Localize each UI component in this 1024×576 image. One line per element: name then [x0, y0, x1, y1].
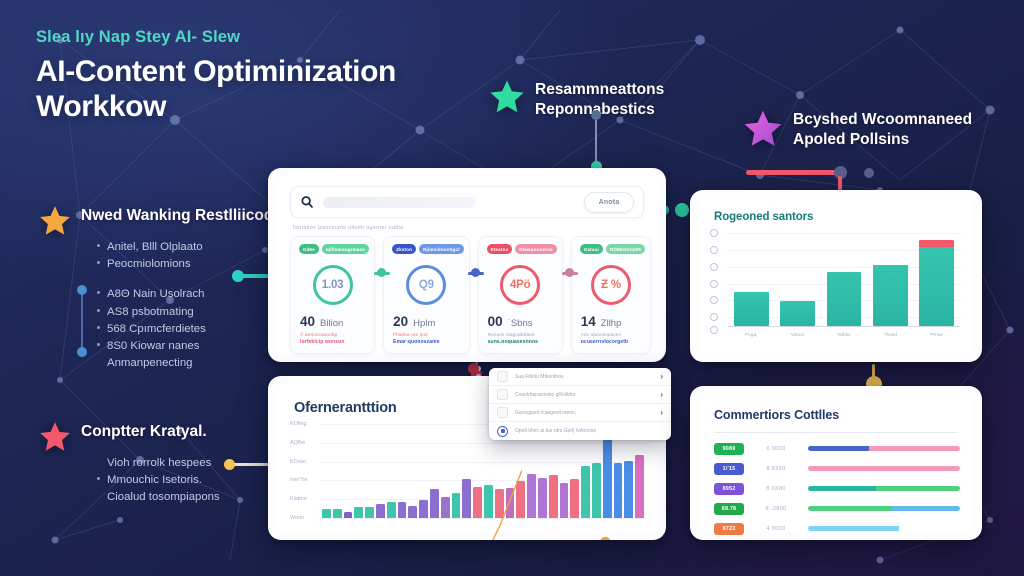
status-badge: Zkston — [392, 244, 416, 254]
bullet-text: A8Θ Nain Usolrach — [107, 286, 205, 303]
connector-left-vertical — [76, 285, 88, 357]
status-badge: Oataui — [580, 244, 603, 254]
infographic-canvas: Slea lıy Nap Stey AI- Slew AI-Content Op… — [0, 0, 1024, 576]
ring-value: 4Pö — [510, 279, 531, 291]
anota-button[interactable]: Anota — [584, 192, 634, 213]
bullet-dot — [97, 343, 100, 346]
progress-bar — [808, 526, 960, 532]
search-icon — [300, 195, 314, 209]
progress-segment — [808, 526, 899, 532]
metric-sub: Fhaeba ure loor — [393, 332, 428, 337]
annotation-bullets: Anitel, Blll Olplaato Peocmiolomions A8Θ… — [81, 239, 273, 373]
progress-segment — [892, 506, 960, 512]
dropdown-menu[interactable]: Sua Flönlu Mtkeothos › Couolrhanaonsko g… — [489, 368, 671, 440]
list-item: Mmouchic Isetoris. — [97, 472, 220, 489]
x-axis-label: Prnae — [919, 333, 954, 338]
annotation-resamneattons: Resammneattons Reponnabestics — [488, 78, 765, 119]
bullet-dot — [97, 244, 100, 247]
metric-card[interactable]: Oataui RÖMletvtat05 Ƶ % 14 Zllhp Aec olu… — [571, 236, 651, 354]
radio-selected-icon[interactable] — [497, 426, 508, 437]
metric-sub: Aec oluonespacen — [581, 332, 622, 337]
bullet-text: Cioalud tosompiapons — [107, 489, 220, 506]
list-item: Anmanpenecting — [107, 355, 273, 372]
y-axis-label: Klatme — [290, 496, 307, 502]
bullet-dot — [97, 477, 100, 480]
progress-segment — [808, 506, 892, 512]
panel-caption: Teurskov izsonsunte ulkuth ogerner natbe — [292, 225, 404, 231]
metric-unit: ˙Sbns — [508, 318, 533, 329]
menu-item[interactable]: Sua Flönlu Mtkeothos › — [489, 368, 671, 386]
progress-bar — [808, 446, 960, 452]
divider — [714, 432, 958, 433]
y-axis-tick — [710, 246, 718, 254]
table-row[interactable]: 68.788 -2800 — [714, 500, 960, 517]
progress-bar — [808, 506, 960, 512]
x-axis-label: Wibtw — [827, 333, 862, 338]
trend-endpoint — [600, 537, 610, 540]
chart-plot-area: Poga,VisuorWibtwThsedPrnae — [710, 231, 962, 343]
metric-sub: © aerinccanoobp — [300, 332, 337, 337]
status-badge: 9089 — [714, 443, 744, 455]
status-badge: 8723 — [714, 523, 744, 535]
chart-title: Ofernerantttion — [294, 400, 397, 416]
header-kicker: Slea lıy Nap Stey AI- Slew — [36, 28, 506, 47]
metric-number: 40 — [300, 314, 315, 329]
star-icon — [742, 108, 784, 150]
metric-ring: Q9 — [406, 265, 446, 305]
annotation-title: Resammneattons Reponnabestics — [535, 80, 765, 119]
chart-bar-group — [734, 233, 769, 326]
row-value: 6 0000 — [744, 446, 808, 452]
progress-segment — [808, 466, 960, 472]
bullet-text: Vioh rorrolk hespees — [107, 455, 211, 472]
metric-sub: Renuns stagndtrbleet — [488, 332, 535, 337]
annotation-bcyshed-wcoomnaneed: Bcyshed Wcoomnaneed Apoled Pollsins — [742, 108, 1023, 150]
annotation-need-wanking: Nwed Wanking Restlliicod Anitel, Blll Ol… — [38, 204, 273, 373]
bullet-text: Mmouchic Isetoris. — [107, 472, 202, 489]
menu-item[interactable]: Couolrhanaonsko gRolitdor › — [489, 386, 671, 404]
chip-group: Oataui RÖMletvtat05 — [580, 244, 645, 254]
menu-item[interactable]: Gacegpont /caegevtl.meon, › — [489, 404, 671, 422]
x-axis-label: Visuor — [780, 333, 815, 338]
progress-bar — [808, 486, 960, 492]
menu-item-label: Gacegpont /caegevtl.meon, — [515, 410, 653, 416]
metric-sub2: suns.noquasesnnos — [488, 339, 538, 345]
connector-coral-dot-cards — [468, 363, 479, 374]
status-badge: Rjimvidnunhgcl — [419, 244, 464, 254]
x-axis-label: Poga, — [734, 333, 769, 338]
status-badge: Eteatna — [487, 244, 513, 254]
chart-bar — [827, 272, 862, 326]
image-thumb-icon — [497, 371, 508, 382]
metric-ring: 1.03 — [313, 265, 353, 305]
list-item: 8S0 Kiowar nanes — [97, 338, 273, 355]
metric-ring: Ƶ % — [591, 265, 631, 305]
ring-connector-dot — [471, 268, 480, 277]
metric-sub2: lorfeklcip wonsun — [300, 339, 345, 345]
bullet-dot — [97, 291, 100, 294]
chart-bar-group — [827, 233, 862, 326]
status-badge: Dlwepooneroa — [515, 244, 556, 254]
table-row[interactable]: 87234 0000 — [714, 520, 960, 537]
bullet-dot — [97, 261, 100, 264]
ring-connector-dot — [377, 268, 386, 277]
connector-teal-vertical-top — [590, 110, 601, 172]
metric-number: 20 — [393, 314, 408, 329]
y-axis-label: AQfhe — [290, 440, 305, 446]
ring-connector-dot — [565, 268, 574, 277]
menu-item-label: Opelt khec ai buı ntrs Getl) Ivdonoso — [515, 428, 663, 434]
y-axis-label: Woon — [290, 515, 304, 521]
y-axis-tick — [710, 296, 718, 304]
y-axis-tick — [710, 263, 718, 271]
progress-bar — [808, 466, 960, 472]
star-icon — [38, 420, 72, 454]
chart-title: Rogeoned santors — [714, 211, 813, 223]
y-axis-label: KOfing — [290, 421, 306, 427]
chart-bar — [919, 247, 954, 326]
x-axis-label: Thsed — [873, 333, 908, 338]
chevron-right-icon: › — [660, 373, 663, 381]
annotation-title: Bcyshed Wcoomnaneed Apoled Pollsins — [793, 110, 1023, 149]
star-icon — [38, 204, 72, 238]
bullet-text: AS8 psbotmating — [107, 304, 194, 321]
x-axis-line — [728, 326, 960, 327]
metric-unit: Zllhp — [601, 318, 622, 329]
progress-segment — [808, 446, 869, 452]
status-badge: 8952 — [714, 483, 744, 495]
image-thumb-icon — [497, 389, 508, 400]
list-item: 568 Cpımcferdietes — [97, 321, 273, 338]
status-badge: 68.78 — [714, 503, 744, 515]
page-title: AI-Content Optiminization Workkow — [36, 54, 426, 124]
menu-item-label: Sua Flönlu Mtkeothos — [515, 374, 653, 380]
metric-sub2: ucueerrıvlocorgetb — [581, 339, 628, 345]
trend-line — [325, 471, 521, 540]
chevron-right-icon: › — [660, 409, 663, 417]
y-axis-label: Iner'Tie — [290, 477, 308, 483]
bullet-text: Anitel, Blll Olplaato — [107, 239, 203, 256]
metric-value-row: 00 ˙Sbns — [488, 314, 533, 329]
ring-value: Q9 — [419, 279, 434, 291]
metric-number: 14 — [581, 314, 596, 329]
chart-bar — [873, 265, 908, 326]
search-input[interactable] — [323, 197, 475, 208]
progress-segment — [876, 486, 960, 492]
controls-list-panel: Commertiors Cottlles 90896 00001/'158 82… — [690, 386, 982, 540]
metric-value-row: 20 Hplm — [393, 314, 435, 329]
y-axis-tick — [710, 280, 718, 288]
status-badge: GiMe — [299, 244, 319, 254]
bullet-text: Anmanpenecting — [107, 355, 193, 372]
panel-inner: Anota Teurskov izsonsunte ulkuth ogerner… — [276, 176, 658, 354]
annotation-bullets: Vioh rorrolk hespees Mmouchic Isetoris. … — [81, 455, 220, 507]
chart-bar-group — [780, 233, 815, 326]
list-item: Vioh rorrolk hespees — [107, 455, 220, 472]
table-row[interactable]: 1/'158 8260 — [714, 460, 960, 477]
chart-bar-group — [873, 233, 908, 326]
annotation-title: Nwed Wanking Restlliicod — [81, 206, 273, 226]
list-item: Anitel, Blll Olplaato — [97, 239, 273, 256]
bullet-text: 8S0 Kiowar nanes — [107, 338, 199, 355]
ring-value: 1.03 — [322, 279, 344, 291]
bullet-dot — [97, 309, 100, 312]
metric-unit: Hplm — [413, 318, 435, 329]
annotation-title: Conptter Kratyal. — [81, 422, 220, 442]
image-thumb-icon — [497, 407, 508, 418]
row-value: 4 0000 — [744, 526, 808, 532]
status-badge: Iqlllomoogrmaos — [322, 244, 369, 254]
y-axis-tick — [710, 313, 718, 321]
chip-group: GiMe Iqlllomoogrmaos — [299, 244, 369, 254]
metric-sub2: Emar-quonoszame — [393, 339, 440, 345]
chart-bar-cap — [919, 240, 954, 247]
menu-item[interactable]: Opelt khec ai buı ntrs Getl) Ivdonoso — [489, 422, 671, 440]
progress-segment — [869, 446, 960, 452]
y-axis-tick — [710, 326, 718, 334]
y-axis-label: KOƨso — [290, 459, 306, 465]
chart-bar — [734, 292, 769, 326]
star-icon — [488, 78, 526, 116]
annotation-conptter-kratyal: Conptter Kratyal. Vioh rorrolk hespees M… — [38, 420, 220, 507]
row-value: 8 -2800 — [744, 506, 808, 512]
chart-bar — [780, 301, 815, 326]
search-bar[interactable]: Anota — [290, 186, 644, 218]
list-item: Cioalud tosompiapons — [107, 489, 220, 506]
trend-lines — [322, 426, 644, 540]
status-badge: 1/'15 — [714, 463, 744, 475]
metric-value-row: 40 Bilion — [300, 314, 343, 329]
panel-title: Commertiors Cottlles — [714, 408, 839, 422]
metric-unit: Bilion — [320, 318, 343, 329]
row-value: 8 0X80 — [744, 486, 808, 492]
sectors-chart-panel: Rogeoned santors Poga,VisuorWibtwThsedPr… — [690, 190, 982, 362]
chart-bars — [728, 233, 960, 326]
metric-value-row: 14 Zllhp — [581, 314, 622, 329]
chip-group: Eteatna Dlwepooneroa — [487, 244, 557, 254]
main-dashboard-panel: Anota Teurskov izsonsunte ulkuth ogerner… — [268, 168, 666, 362]
metric-card[interactable]: GiMe Iqlllomoogrmaos 1.03 40 Bilion © ae… — [290, 236, 375, 354]
ring-value: Ƶ % — [601, 279, 621, 291]
metric-card[interactable]: Eteatna Dlwepooneroa 4Pö 00 ˙Sbns Renuns… — [478, 236, 563, 354]
panel-inner: Commertiors Cottlles 90896 00001/'158 82… — [698, 394, 974, 532]
chip-group: Zkston Rjimvidnunhgcl — [392, 244, 464, 254]
metric-ring: 4Pö — [500, 265, 540, 305]
list-item: A8Θ Nain Usolrach — [97, 286, 273, 303]
row-value: 8 8260 — [744, 466, 808, 472]
table-row[interactable]: 89528 0X80 — [714, 480, 960, 497]
metric-number: 00 — [488, 314, 503, 329]
bullet-dot — [97, 326, 100, 329]
y-axis-tick — [710, 229, 718, 237]
menu-item-label: Couolrhanaonsko gRolitdor — [515, 392, 653, 398]
chevron-right-icon: › — [660, 391, 663, 399]
status-badge: RÖMletvtat05 — [606, 244, 645, 254]
list-item: AS8 psbotmating — [97, 304, 273, 321]
progress-segment — [808, 486, 876, 492]
panel-inner: Rogeoned santors Poga,VisuorWibtwThsedPr… — [698, 198, 974, 354]
metric-cards: GiMe Iqlllomoogrmaos 1.03 40 Bilion © ae… — [290, 236, 644, 354]
metric-card[interactable]: Zkston Rjimvidnunhgcl Q9 20 Hplm Fhaeba … — [383, 236, 470, 354]
table-row[interactable]: 90896 0000 — [714, 440, 960, 457]
bullet-text: 568 Cpımcferdietes — [107, 321, 206, 338]
chart-bar-group — [919, 233, 954, 326]
header: Slea lıy Nap Stey AI- Slew AI-Content Op… — [36, 28, 506, 124]
list-rows: 90896 00001/'158 826089528 0X8068.788 -2… — [714, 440, 960, 522]
bullet-text: Peocmiolomions — [107, 256, 191, 273]
x-axis-labels: Poga,VisuorWibtwThsedPrnae — [728, 329, 960, 341]
